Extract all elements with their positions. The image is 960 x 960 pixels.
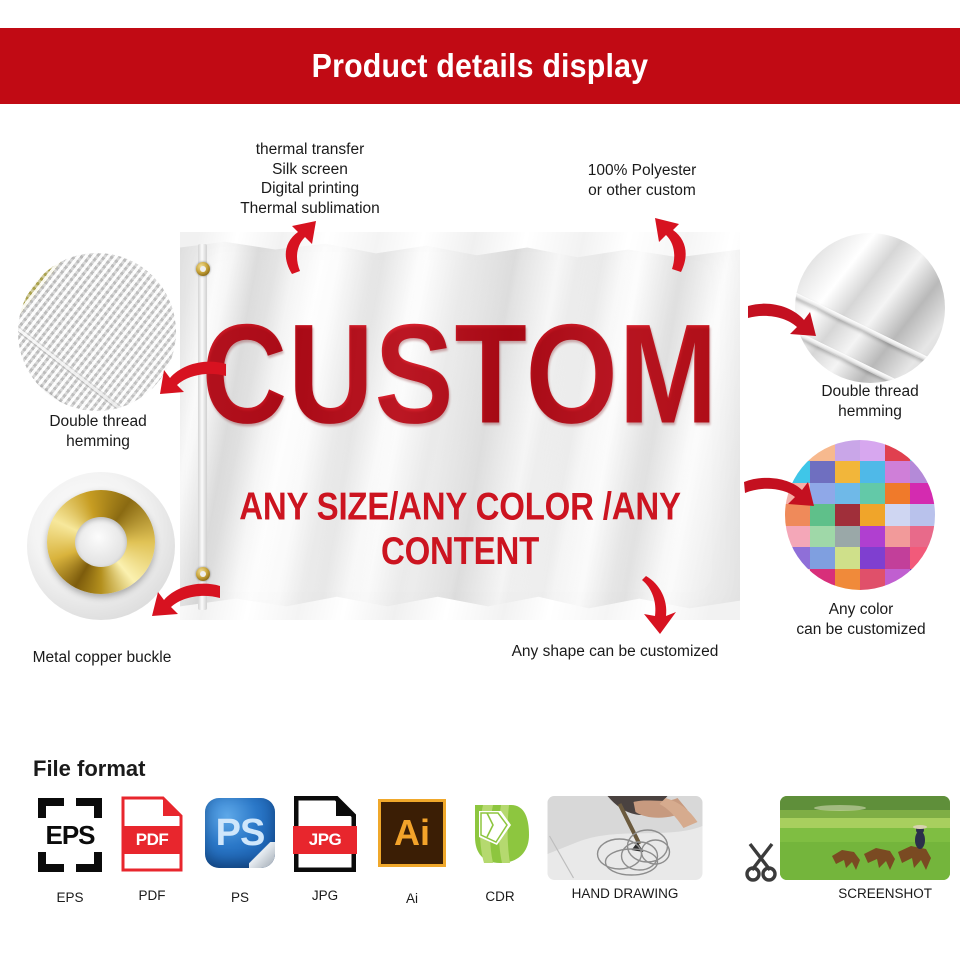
color-swatch <box>860 440 885 461</box>
file-format-item-eps[interactable]: EPS EPS <box>30 798 110 902</box>
color-swatch <box>860 526 885 547</box>
file-format-label-hand-drawing: HAND DRAWING <box>572 886 679 901</box>
color-swatch <box>785 526 810 547</box>
color-swatch <box>885 569 910 590</box>
caption-hem-left: Double thread hemming <box>14 412 182 451</box>
color-swatch <box>910 547 935 568</box>
arrow-hem-right-icon <box>744 296 816 344</box>
color-swatch <box>885 461 910 482</box>
color-swatch <box>910 569 935 590</box>
color-swatch <box>885 504 910 525</box>
file-format-item-screenshot[interactable]: SCREENSHOT <box>740 794 950 902</box>
photoshop-icon: PS <box>205 798 275 868</box>
eps-file-icon: EPS <box>38 798 102 872</box>
callout-material: 100% Polyester or other custom <box>560 161 724 200</box>
color-swatch <box>810 440 835 461</box>
color-swatch <box>785 547 810 568</box>
arrow-material-icon <box>645 214 701 276</box>
eps-icon-text: EPS <box>38 820 102 851</box>
file-format-label-ai: Ai <box>406 891 418 906</box>
color-swatch <box>910 483 935 504</box>
jpg-icon-text: JPG <box>293 826 357 854</box>
color-swatch <box>910 504 935 525</box>
color-swatch <box>835 483 860 504</box>
file-format-label-pdf: PDF <box>139 888 166 903</box>
scissors-icon <box>744 842 778 882</box>
arrow-hem-left-icon <box>160 358 230 404</box>
arrow-grommet-icon <box>152 578 224 626</box>
pdf-file-icon: PDF <box>121 796 183 872</box>
color-swatch <box>835 547 860 568</box>
page-title: Product details display <box>312 47 649 85</box>
color-swatch <box>810 547 835 568</box>
screenshot-photo <box>780 796 950 880</box>
detail-circle-hem-left <box>18 253 176 411</box>
color-swatch <box>835 526 860 547</box>
color-swatch <box>860 483 885 504</box>
file-format-item-jpg[interactable]: JPG JPG <box>285 796 365 900</box>
color-swatch <box>910 461 935 482</box>
color-swatch <box>835 440 860 461</box>
callout-printing-methods: thermal transfer Silk screen Digital pri… <box>222 140 398 218</box>
caption-grommet: Metal copper buckle <box>9 648 195 668</box>
flag-grommet-top <box>196 262 210 276</box>
pdf-icon-text: PDF <box>123 826 181 854</box>
jpg-file-icon: JPG <box>294 796 356 872</box>
grommet-hole <box>75 517 127 567</box>
color-swatch <box>810 569 835 590</box>
file-format-label-eps: EPS <box>56 890 83 905</box>
file-format-item-ps[interactable]: PS PS <box>200 798 280 902</box>
color-swatch <box>835 461 860 482</box>
color-swatch <box>785 569 810 590</box>
detail-circle-hem-right <box>795 233 945 383</box>
arrow-colors-icon <box>742 468 814 514</box>
detail-circle-colors <box>785 440 935 590</box>
color-swatch <box>860 504 885 525</box>
color-swatch <box>835 504 860 525</box>
coreldraw-icon <box>467 797 533 869</box>
file-format-item-cdr[interactable]: CDR <box>458 797 542 901</box>
file-format-item-ai[interactable]: Ai Ai <box>372 799 452 903</box>
file-format-heading: File format <box>33 756 145 782</box>
caption-colors: Any color can be customized <box>768 600 954 639</box>
file-format-label-cdr: CDR <box>485 889 514 904</box>
arrow-shape-icon <box>636 574 686 636</box>
ai-icon-text: Ai <box>381 802 443 864</box>
file-format-row: EPS EPS PDF PDF PS PS <box>0 790 960 905</box>
color-swatch <box>885 526 910 547</box>
caption-shape: Any shape can be customized <box>440 642 790 662</box>
hand-drawing-photo <box>548 796 703 880</box>
arrow-printing-icon <box>272 216 332 278</box>
color-swatch <box>860 547 885 568</box>
file-format-label-jpg: JPG <box>312 888 338 903</box>
color-swatch <box>785 440 810 461</box>
color-swatch <box>860 569 885 590</box>
flag-mockup: CUSTOM ANY SIZE/ANY COLOR /ANY CONTENT <box>180 232 740 620</box>
color-swatch <box>835 569 860 590</box>
illustrator-icon: Ai <box>378 799 446 867</box>
flag-sub-text: ANY SIZE/ANY COLOR /ANY CONTENT <box>180 484 740 574</box>
file-format-item-hand-drawing[interactable]: HAND DRAWING <box>545 794 705 902</box>
file-format-item-pdf[interactable]: PDF PDF <box>112 796 192 900</box>
caption-hem-right: Double thread hemming <box>786 382 954 421</box>
color-swatch <box>885 483 910 504</box>
flag-main-text: CUSTOM <box>174 292 745 455</box>
color-swatch <box>885 440 910 461</box>
color-swatch <box>910 526 935 547</box>
product-details-page: Product details display thermal transfer… <box>0 0 960 960</box>
color-swatch <box>810 526 835 547</box>
header-banner: Product details display <box>0 28 960 104</box>
color-swatch <box>910 440 935 461</box>
file-format-label-screenshot: SCREENSHOT <box>838 886 932 901</box>
file-format-label-ps: PS <box>231 890 249 905</box>
color-swatch <box>860 461 885 482</box>
color-swatch <box>885 547 910 568</box>
